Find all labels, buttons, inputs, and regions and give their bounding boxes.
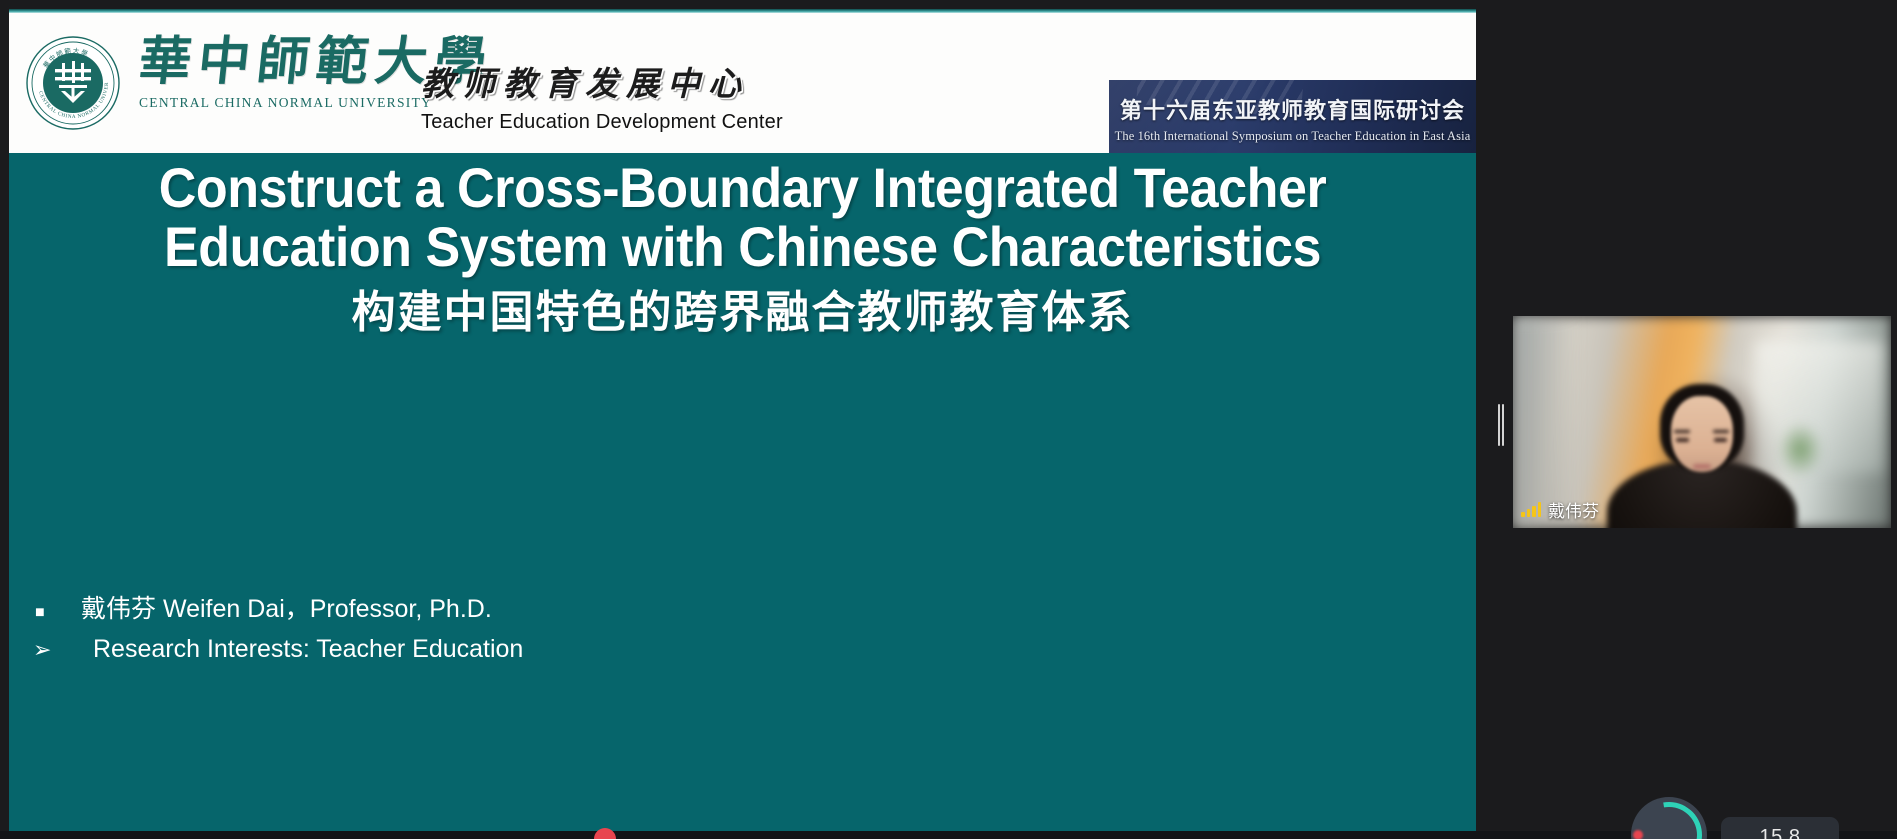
center-wordmark: 教师教育发展中心 Teacher Education Development C…	[421, 57, 783, 134]
participant-face	[1671, 396, 1733, 472]
presenter-info-list: ■ 戴伟芬 Weifen Dai，Professor, Ph.D. ➢ Rese…	[31, 591, 523, 668]
university-seal-icon: 華中師範大學 CENTRAL CHINA NORMAL UNIVERSITY	[25, 35, 121, 131]
video-background-plant	[1778, 422, 1823, 477]
signal-strength-icon	[1521, 502, 1541, 517]
university-name-en: CENTRAL CHINA NORMAL UNIVERSITY	[139, 95, 419, 111]
symposium-title-en: The 16th International Symposium on Teac…	[1115, 129, 1471, 144]
research-interests: Research Interests: Teacher Education	[81, 631, 523, 667]
status-badge[interactable]: 15.8	[1721, 817, 1839, 839]
slide-title-chinese: 构建中国特色的跨界融合教师教育体系	[99, 289, 1386, 337]
slide-header: 華中師範大學 CENTRAL CHINA NORMAL UNIVERSITY 華…	[9, 13, 1476, 153]
list-item: ➢ Research Interests: Teacher Education	[31, 631, 523, 668]
arrow-bullet-icon: ➢	[31, 632, 81, 668]
shared-slide: 華中師範大學 CENTRAL CHINA NORMAL UNIVERSITY 華…	[9, 9, 1476, 831]
center-name-cn: 教师教育发展中心	[421, 57, 783, 105]
vertical-drag-handle-icon[interactable]	[1498, 404, 1505, 446]
square-bullet-icon: ■	[31, 595, 81, 631]
list-item: ■ 戴伟芬 Weifen Dai，Professor, Ph.D.	[31, 591, 523, 631]
circular-gauge-icon[interactable]	[1631, 797, 1707, 839]
symposium-banner: 第十六届东亚教师教育国际研讨会 The 16th International S…	[1109, 80, 1476, 153]
slide-title-english: Construct a Cross-Boundary Integrated Te…	[144, 159, 1341, 277]
presenter-name-title: 戴伟芬 Weifen Dai，Professor, Ph.D.	[81, 591, 492, 627]
university-name-cn: 華中師範大學	[136, 37, 421, 89]
slide-title-block: Construct a Cross-Boundary Integrated Te…	[9, 159, 1476, 337]
participant-name-label: 戴伟芬	[1548, 497, 1599, 522]
bottom-toolbar-band	[0, 831, 1897, 839]
symposium-title-cn: 第十六届东亚教师教育国际研讨会	[1120, 93, 1465, 125]
meeting-screen: 華中師範大學 CENTRAL CHINA NORMAL UNIVERSITY 華…	[0, 0, 1897, 839]
participant-video-tile[interactable]: 戴伟芬	[1513, 316, 1891, 528]
center-name-en: Teacher Education Development Center	[421, 111, 783, 134]
university-wordmark: 華中師範大學 CENTRAL CHINA NORMAL UNIVERSITY	[139, 37, 419, 111]
participant-name-bar: 戴伟芬	[1513, 492, 1611, 528]
